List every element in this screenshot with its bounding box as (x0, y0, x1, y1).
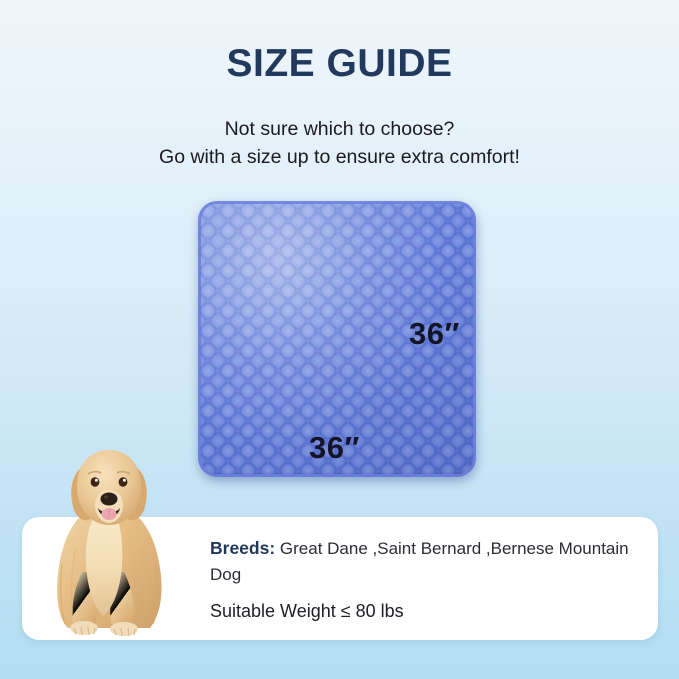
subtitle-block: Not sure which to choose? Go with a size… (0, 116, 679, 171)
page-title: SIZE GUIDE (0, 44, 679, 85)
dog-nose (101, 493, 118, 506)
dimension-label-width: 36″ (309, 430, 360, 466)
size-guide-infographic: SIZE GUIDE Not sure which to choose? Go … (0, 0, 679, 679)
dimension-label-height: 36″ (409, 316, 460, 352)
subtitle-line-2: Go with a size up to ensure extra comfor… (0, 144, 679, 172)
dog-head (77, 450, 141, 525)
dog-eye-right (119, 477, 128, 487)
breeds-line: Breeds: Great Dane ,Saint Bernard ,Berne… (210, 535, 630, 587)
info-card-text: Breeds: Great Dane ,Saint Bernard ,Berne… (210, 535, 630, 622)
golden-retriever-image (38, 444, 178, 642)
subtitle-line-1: Not sure which to choose? (0, 116, 679, 144)
product-image-cooling-mat: 36″ 36″ (198, 201, 478, 479)
suitable-weight-text: Suitable Weight ≤ 80 lbs (210, 601, 630, 622)
breeds-label: Breeds: (210, 538, 275, 558)
dog-eye-left (91, 477, 100, 487)
